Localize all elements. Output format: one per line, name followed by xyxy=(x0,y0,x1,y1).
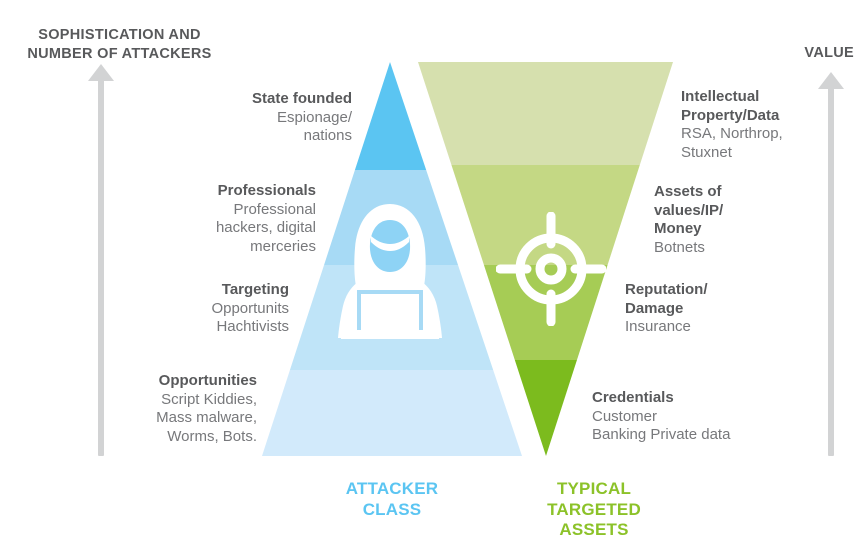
label-title: State founded xyxy=(112,90,352,109)
label-intellectual-property: Intellectual Property/Data RSA, Northrop… xyxy=(681,88,856,163)
label-assets-of-value: Assets of values/IP/ Money Botnets xyxy=(654,183,829,258)
label-title: Intellectual Property/Data xyxy=(681,88,856,125)
hacker-at-laptop-icon xyxy=(330,200,450,348)
label-title: Opportunities xyxy=(17,372,257,391)
label-title: Reputation/ Damage xyxy=(625,281,810,318)
label-professionals: Professionals Professional hackers, digi… xyxy=(76,182,316,257)
label-reputation-damage: Reputation/ Damage Insurance xyxy=(625,281,810,337)
left-axis-label: SOPHISTICATION AND NUMBER OF ATTACKERS xyxy=(12,26,227,63)
label-title: Professionals xyxy=(76,182,316,201)
label-desc: RSA, Northrop, Stuxnet xyxy=(681,125,856,163)
pyramid-band-intellectual-property xyxy=(412,62,680,165)
label-desc: Espionage/ nations xyxy=(112,109,352,147)
legend-targeted-assets: TYPICAL TARGETED ASSETS xyxy=(496,479,692,541)
label-desc: Customer Banking Private data xyxy=(592,408,822,446)
right-axis-label: VALUE xyxy=(804,44,854,63)
label-title: Credentials xyxy=(592,389,822,408)
label-credentials: Credentials Customer Banking Private dat… xyxy=(592,389,822,445)
label-desc: Botnets xyxy=(654,239,829,258)
label-opportunities: Opportunities Script Kiddies, Mass malwa… xyxy=(17,372,257,447)
crosshair-target-icon xyxy=(496,212,606,326)
label-state-founded: State founded Espionage/ nations xyxy=(112,90,352,146)
label-desc: Opportunits Hachtivists xyxy=(49,300,289,338)
label-desc: Script Kiddies, Mass malware, Worms, Bot… xyxy=(17,391,257,448)
legend-attacker-class: ATTACKER CLASS xyxy=(316,479,468,520)
label-title: Assets of values/IP/ Money xyxy=(654,183,829,239)
infographic-canvas: SOPHISTICATION AND NUMBER OF ATTACKERS V… xyxy=(0,0,864,543)
label-desc: Professional hackers, digital merceries xyxy=(76,201,316,258)
label-targeting: Targeting Opportunits Hachtivists xyxy=(49,281,289,337)
label-title: Targeting xyxy=(49,281,289,300)
label-desc: Insurance xyxy=(625,318,810,337)
